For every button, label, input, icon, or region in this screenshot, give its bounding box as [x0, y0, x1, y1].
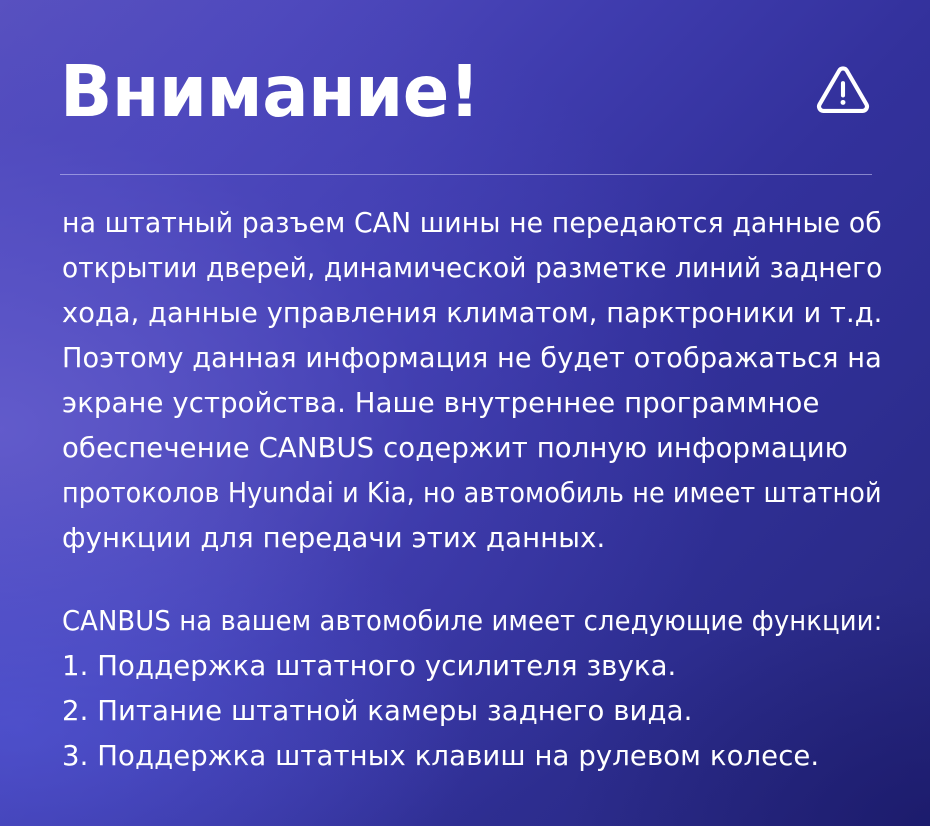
page-title: Внимание! [60, 56, 480, 127]
banner-body: на штатный разъем CAN шины не передаются… [62, 201, 882, 779]
banner-content: Внимание! на штатный разъем CAN шины не … [0, 0, 930, 826]
intro-line: протоколов Hyundai и Kia, но автомобиль … [62, 471, 822, 516]
header-divider [60, 174, 872, 175]
intro-line: функции для передачи этих данных. [62, 516, 882, 561]
features-section: CANBUS на вашем автомобиле имеет следующ… [62, 599, 882, 779]
intro-line: открытии дверей, динамической разметке л… [62, 246, 849, 291]
intro-line: обеспечение CANBUS содержит полную инфор… [62, 426, 882, 471]
warning-triangle-icon [815, 63, 871, 119]
warning-banner: Внимание! на штатный разъем CAN шины не … [0, 0, 930, 826]
banner-header: Внимание! [60, 48, 875, 134]
features-lead: CANBUS на вашем автомобиле имеет следующ… [62, 599, 834, 644]
feature-item: 2. Питание штатной камеры заднего вида. [62, 689, 882, 734]
intro-line: экране устройства. Наше внутреннее прогр… [62, 381, 882, 426]
intro-line: на штатный разъем CAN шины не передаются… [62, 201, 859, 246]
intro-line: Поэтому данная информация не будет отобр… [62, 336, 871, 381]
intro-line: хода, данные управления климатом, парктр… [62, 291, 873, 336]
intro-paragraph: на штатный разъем CAN шины не передаются… [62, 201, 882, 561]
feature-item: 3. Поддержка штатных клавиш на рулевом к… [62, 734, 882, 779]
feature-item: 1. Поддержка штатного усилителя звука. [62, 644, 882, 689]
